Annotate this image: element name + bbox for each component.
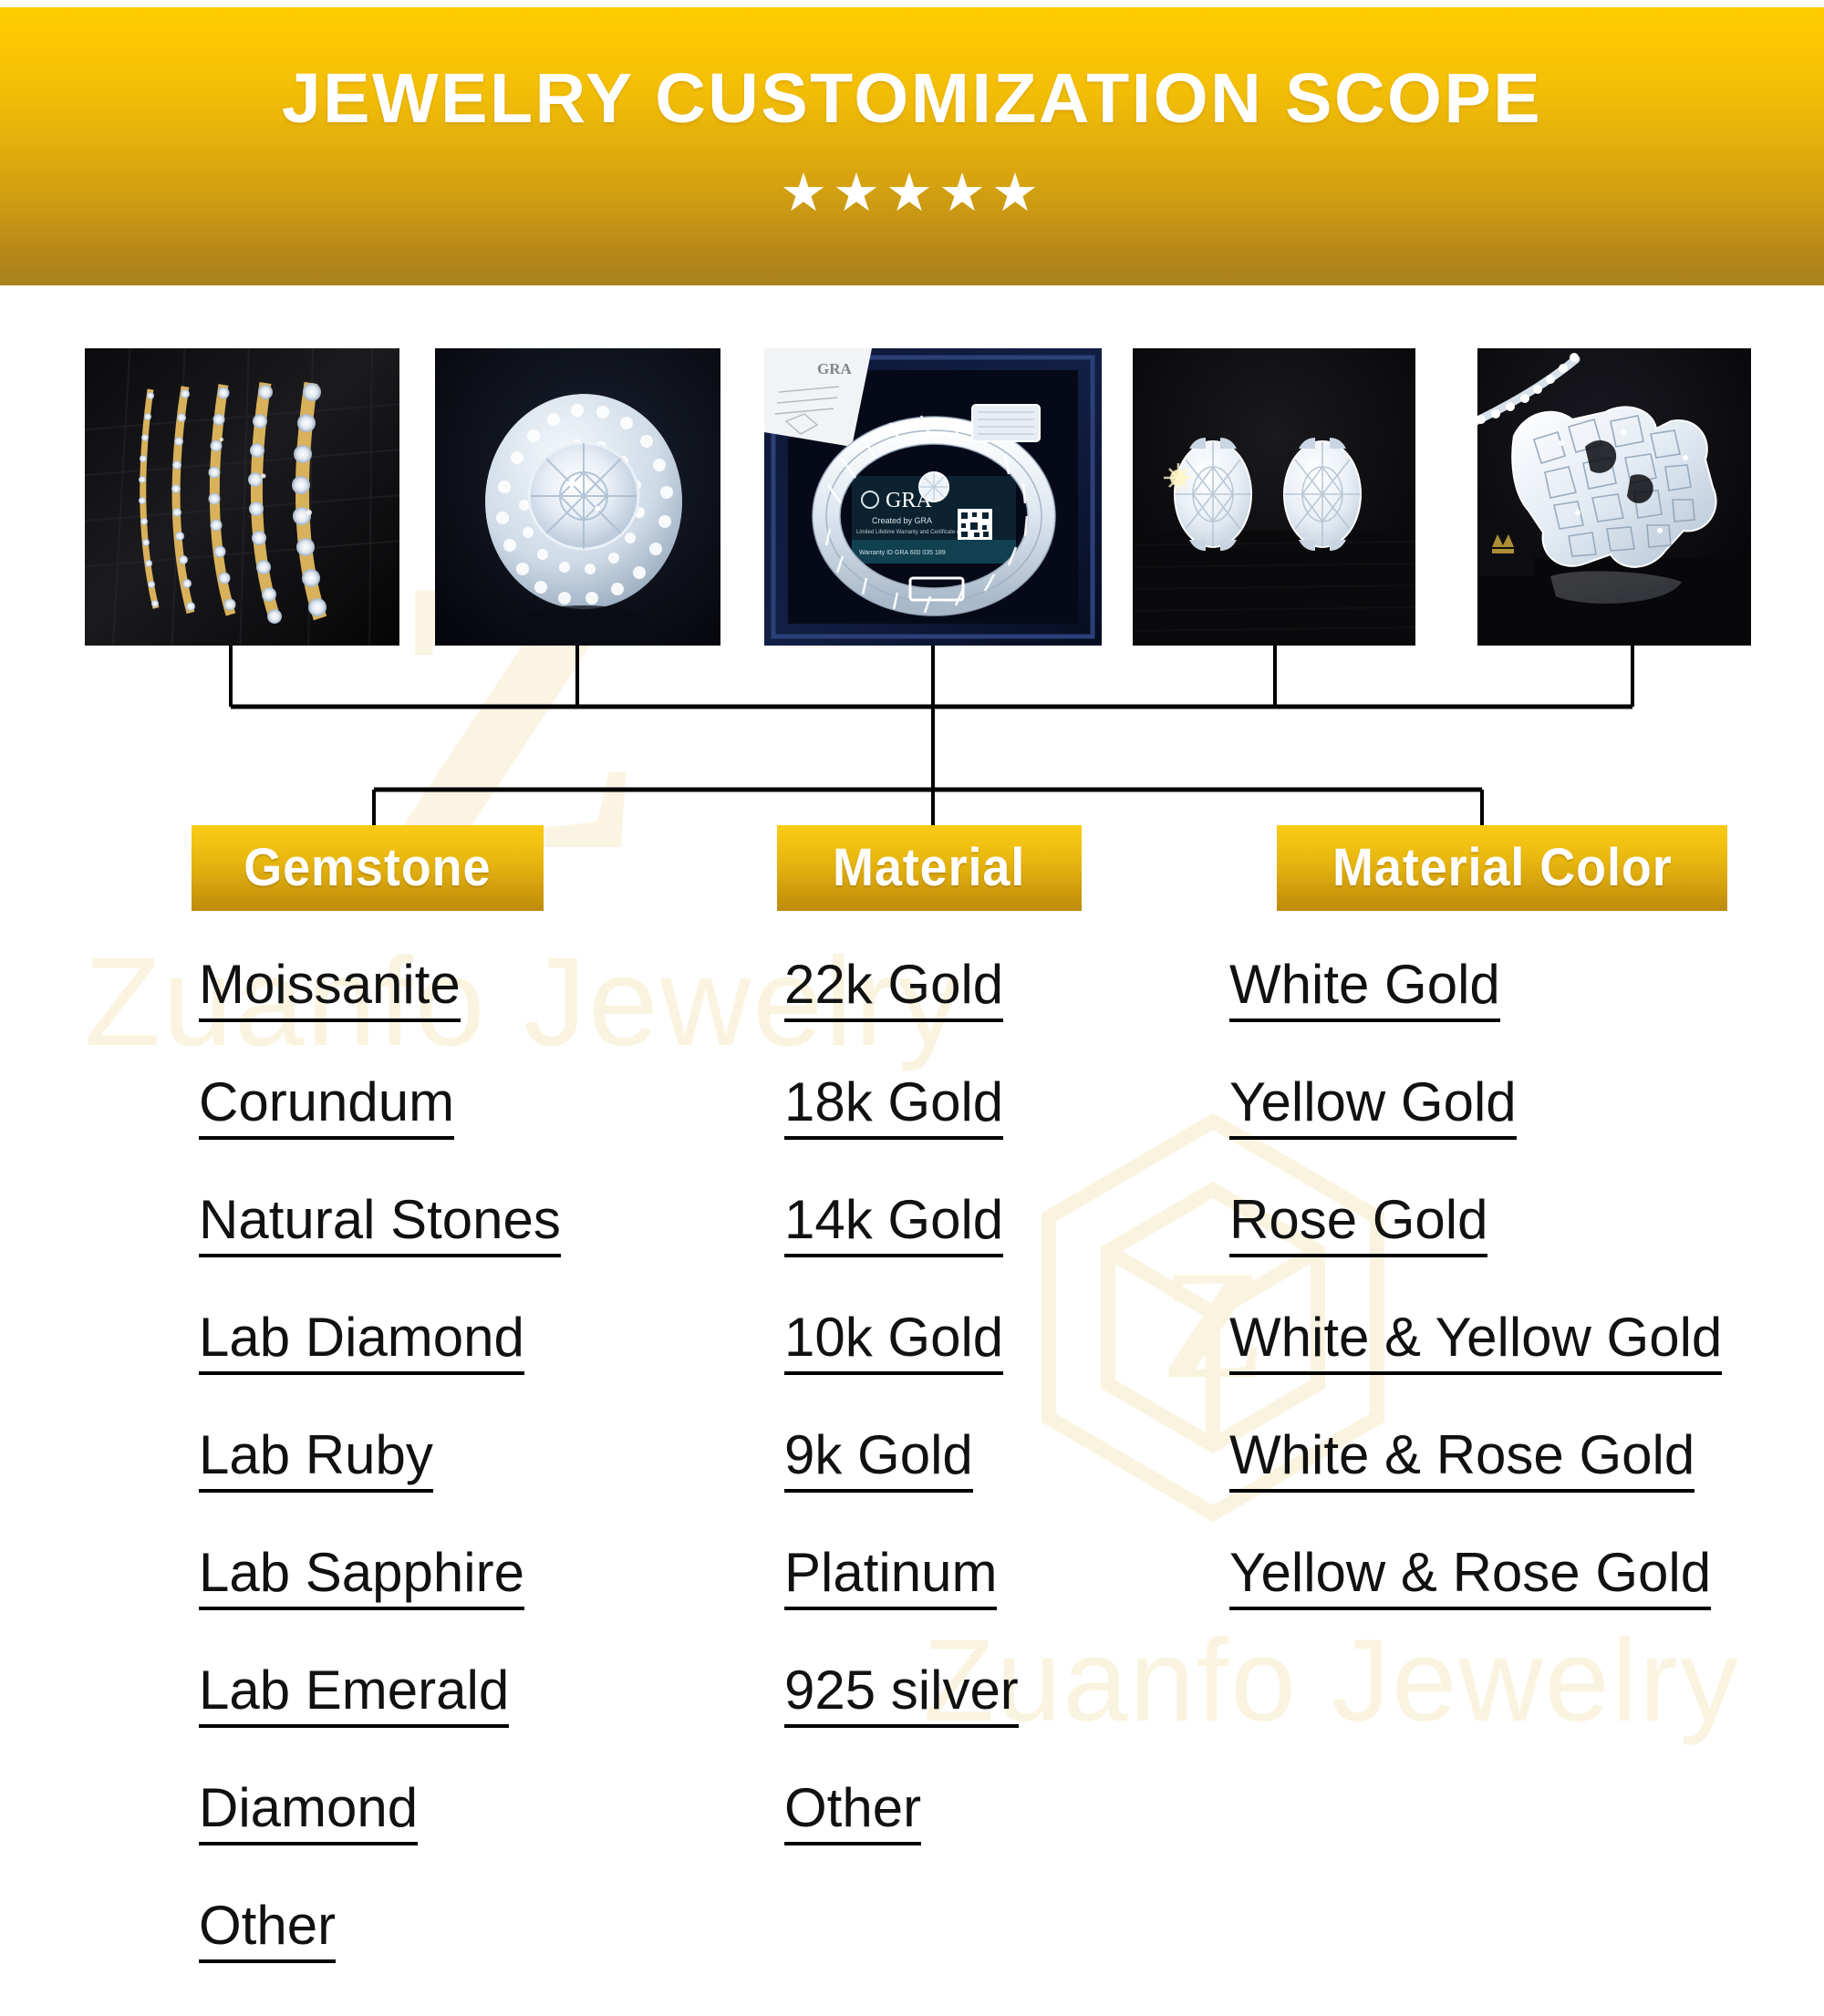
- list-item[interactable]: White & Yellow Gold: [1229, 1310, 1813, 1375]
- infographic-canvas: Z Z Zuanfo Jewelry Zuanfo Jewelry JEWELR…: [0, 0, 1824, 1824]
- option-label: Diamond: [199, 1781, 418, 1845]
- option-label: 9k Gold: [784, 1428, 973, 1493]
- option-label: Platinum: [784, 1546, 997, 1610]
- list-item[interactable]: 14k Gold: [784, 1193, 1167, 1257]
- list-item[interactable]: White & Rose Gold: [1229, 1428, 1813, 1493]
- option-label: 925 silver: [784, 1663, 1019, 1728]
- option-list-material-color: White Gold Yellow Gold Rose Gold White &…: [1229, 957, 1813, 1663]
- option-label: 10k Gold: [784, 1310, 1003, 1375]
- list-item[interactable]: Corundum: [199, 1075, 746, 1140]
- list-item[interactable]: Lab Emerald: [199, 1663, 746, 1728]
- category-label-gemstone: Gemstone: [244, 842, 491, 894]
- list-item[interactable]: 925 silver: [784, 1663, 1167, 1728]
- option-label: Natural Stones: [199, 1193, 561, 1257]
- option-label: 18k Gold: [784, 1075, 1003, 1140]
- list-item[interactable]: 18k Gold: [784, 1075, 1167, 1140]
- list-item[interactable]: Yellow & Rose Gold: [1229, 1546, 1813, 1610]
- option-label: Other: [784, 1781, 921, 1845]
- list-item[interactable]: Lab Sapphire: [199, 1546, 746, 1610]
- list-item[interactable]: 22k Gold: [784, 957, 1167, 1022]
- option-label: White Gold: [1229, 957, 1500, 1022]
- list-item[interactable]: Yellow Gold: [1229, 1075, 1813, 1140]
- option-label: 22k Gold: [784, 957, 1003, 1022]
- option-label: 14k Gold: [784, 1193, 1003, 1257]
- option-label: Lab Sapphire: [199, 1546, 524, 1610]
- option-label: White & Yellow Gold: [1229, 1310, 1722, 1375]
- category-label-material-color: Material Color: [1332, 842, 1673, 894]
- list-item[interactable]: Natural Stones: [199, 1193, 746, 1257]
- option-label: Lab Diamond: [199, 1310, 524, 1375]
- list-item[interactable]: Other: [199, 1898, 746, 1963]
- category-header-gemstone[interactable]: Gemstone: [192, 825, 544, 911]
- list-item[interactable]: Lab Diamond: [199, 1310, 746, 1375]
- option-label: Other: [199, 1898, 336, 1963]
- list-item[interactable]: 10k Gold: [784, 1310, 1167, 1375]
- option-label: Lab Ruby: [199, 1428, 433, 1493]
- list-item[interactable]: Rose Gold: [1229, 1193, 1813, 1257]
- category-header-material-color[interactable]: Material Color: [1277, 825, 1727, 911]
- list-item[interactable]: Diamond: [199, 1781, 746, 1845]
- list-item[interactable]: 9k Gold: [784, 1428, 1167, 1493]
- option-label: Corundum: [199, 1075, 454, 1140]
- option-label: Moissanite: [199, 957, 461, 1022]
- option-label: White & Rose Gold: [1229, 1428, 1694, 1493]
- option-label: Rose Gold: [1229, 1193, 1487, 1257]
- option-label: Lab Emerald: [199, 1663, 509, 1728]
- list-item[interactable]: Lab Ruby: [199, 1428, 746, 1493]
- list-item[interactable]: White Gold: [1229, 957, 1813, 1022]
- list-item[interactable]: Platinum: [784, 1546, 1167, 1610]
- option-list-material: 22k Gold 18k Gold 14k Gold 10k Gold 9k G…: [784, 957, 1167, 1898]
- option-label: Yellow Gold: [1229, 1075, 1517, 1140]
- category-header-material[interactable]: Material: [777, 825, 1082, 911]
- category-label-material: Material: [833, 842, 1025, 894]
- list-item[interactable]: Other: [784, 1781, 1167, 1845]
- option-label: Yellow & Rose Gold: [1229, 1546, 1711, 1610]
- list-item[interactable]: Moissanite: [199, 957, 746, 1022]
- option-list-gemstone: Moissanite Corundum Natural Stones Lab D…: [199, 957, 746, 2016]
